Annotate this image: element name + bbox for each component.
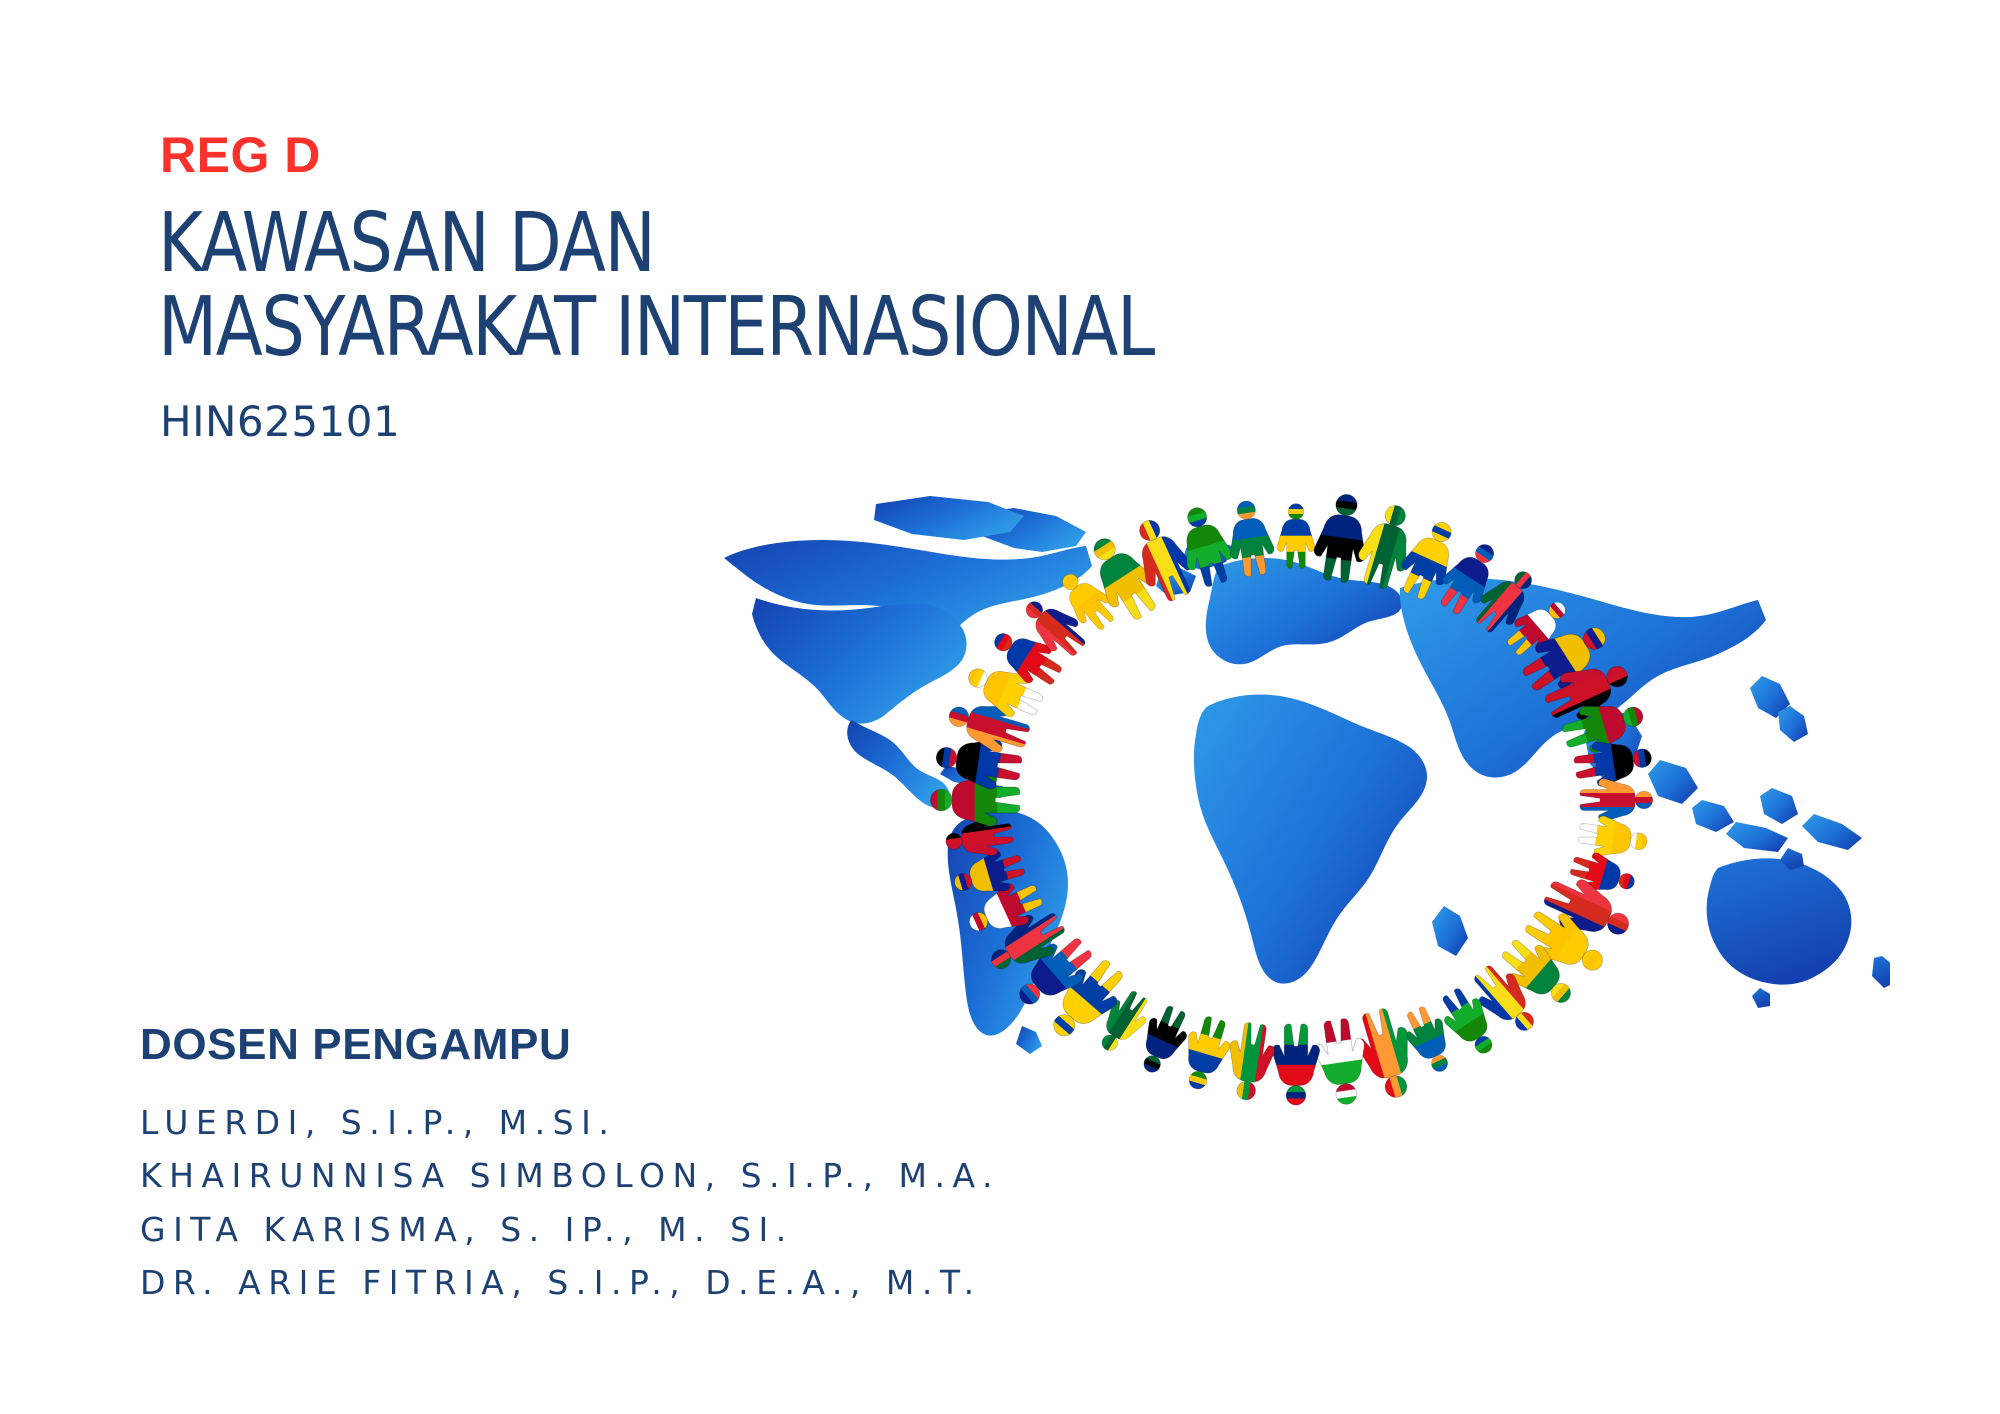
flag-person-figure (1580, 779, 1653, 822)
title-text-block: REG D KAWASAN DAN MASYARAKAT INTERNASION… (158, 130, 1229, 446)
lecturer-item: KHAIRUNNISA SIMBOLON, S.I.P., M.A. (140, 1149, 1000, 1202)
course-code: HIN625101 (160, 397, 1229, 446)
lecturers-block: DOSEN PENGAMPU LUERDI, S.I.P., M.SI.KHAI… (140, 1020, 1000, 1310)
lecturer-item: LUERDI, S.I.P., M.SI. (140, 1096, 1000, 1149)
flag-person-figure (1223, 1020, 1278, 1103)
flag-person-figure (1311, 1016, 1372, 1107)
lecturer-list: LUERDI, S.I.P., M.SI.KHAIRUNNISA SIMBOLO… (140, 1096, 1000, 1310)
flag-person-figure (1576, 813, 1650, 862)
flag-person-figure (1277, 504, 1315, 569)
lecturers-heading: DOSEN PENGAMPU (140, 1020, 1000, 1070)
title-slide: REG D KAWASAN DAN MASYARAKAT INTERNASION… (0, 0, 2000, 1414)
flag-person-figure (1310, 491, 1373, 585)
class-section-label: REG D (160, 130, 1229, 180)
page-title: KAWASAN DAN MASYARAKAT INTERNASIONAL (158, 202, 1154, 371)
flag-person-figure (1272, 1024, 1319, 1105)
flag-person-figure (1175, 1013, 1236, 1095)
lecturer-item: GITA KARISMA, S. IP., M. SI. (140, 1203, 1000, 1256)
lecturer-item: DR. ARIE FITRIA, S.I.P., D.E.A., M.T. (140, 1256, 1000, 1309)
